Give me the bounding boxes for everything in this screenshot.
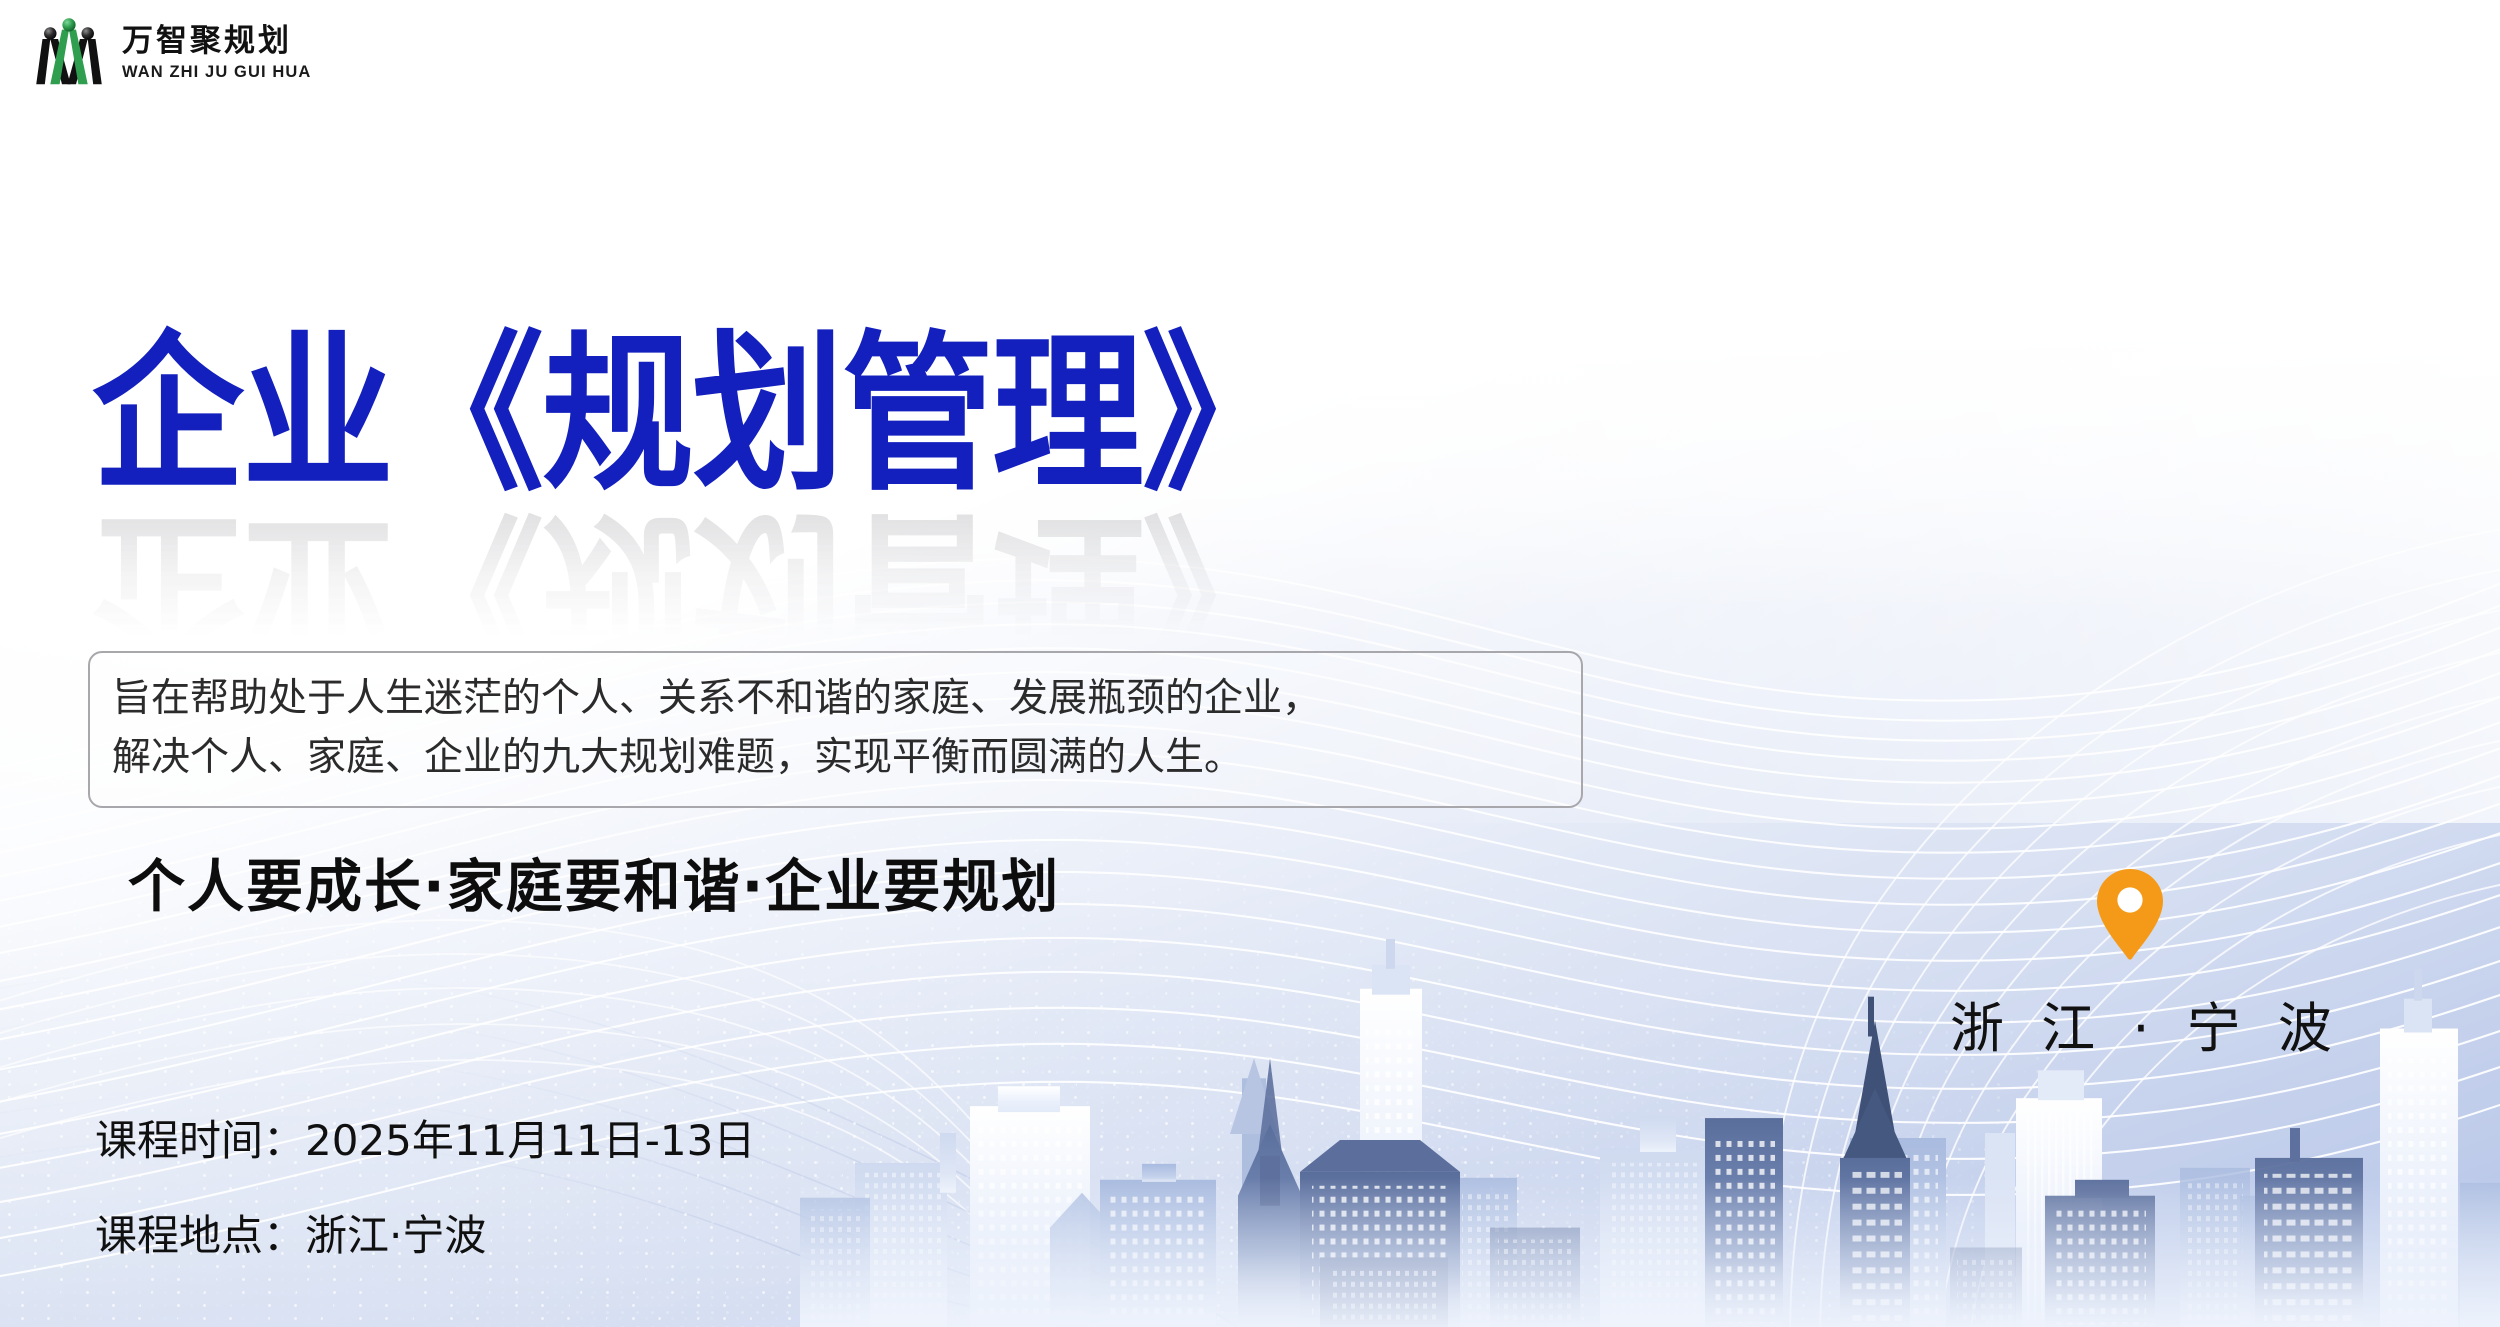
promo-banner: 万智聚规划 WAN ZHI JU GUI HUA 企业《规划管理》 企业《规划管…	[0, 0, 2500, 1327]
description-line-1: 旨在帮助处于人生迷茫的个人、关系不和谐的家庭、发展瓶颈的企业，	[112, 669, 1559, 728]
course-place-row: 课程地点：浙江·宁波	[95, 1215, 755, 1257]
page-title: 企业《规划管理》	[92, 330, 1292, 500]
hero-slogan: 个人要成长·家庭要和谐·企业要规划	[128, 841, 1060, 923]
description-box: 旨在帮助处于人生迷茫的个人、关系不和谐的家庭、发展瓶颈的企业， 解决个人、家庭、…	[88, 651, 1583, 808]
brand-name-en: WAN ZHI JU GUI HUA	[122, 64, 311, 81]
page-title-reflection: 企业《规划管理》	[92, 504, 1292, 674]
map-pin-icon	[2093, 866, 2167, 962]
brand-logo[interactable]: 万智聚规划 WAN ZHI JU GUI HUA	[30, 14, 311, 92]
location-label: 浙 江 · 宁 波	[1950, 984, 2310, 1063]
brand-name-cn: 万智聚规划	[122, 26, 311, 57]
course-time-row: 课程时间：2025年11月11日-13日	[95, 1120, 755, 1162]
three-people-mark-icon	[30, 14, 108, 92]
location-block: 浙 江 · 宁 波	[1950, 866, 2310, 1063]
description-line-2: 解决个人、家庭、企业的九大规划难题，实现平衡而圆满的人生。	[112, 728, 1559, 787]
course-details: 课程时间：2025年11月11日-13日 课程地点：浙江·宁波	[95, 1120, 755, 1257]
